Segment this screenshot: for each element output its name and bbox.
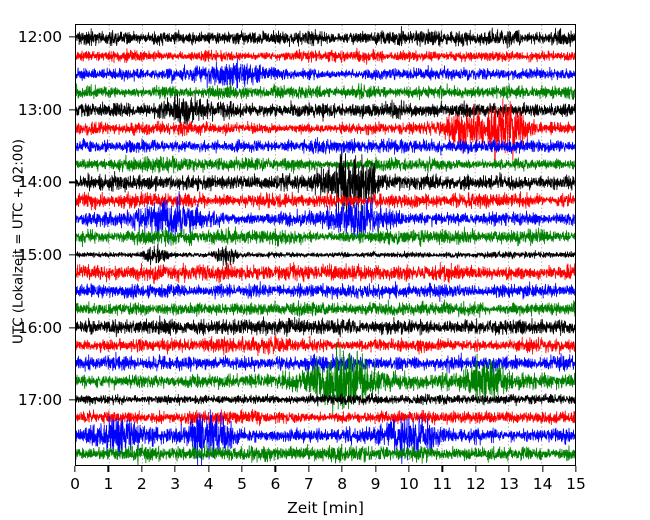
- x-tick-label: 11: [433, 475, 453, 493]
- seismic-trace: [76, 282, 575, 302]
- seismic-trace: [76, 335, 575, 356]
- seismic-trace: [76, 48, 575, 64]
- x-tick-mark: [509, 466, 510, 472]
- seismic-trace: [76, 26, 575, 48]
- x-tick-mark: [575, 466, 576, 472]
- x-tick-mark: [108, 466, 109, 472]
- seismic-trace: [76, 444, 575, 465]
- x-tick-mark: [542, 466, 543, 472]
- x-tick-mark: [241, 466, 242, 472]
- seismic-trace: [76, 300, 575, 318]
- seismic-trace: [76, 137, 575, 156]
- x-tick-label: 15: [566, 475, 586, 493]
- x-axis-title: Zeit [min]: [75, 499, 576, 517]
- seismic-trace: [76, 409, 575, 425]
- x-tick-label: 7: [304, 475, 314, 493]
- y-axis-title: UTC (Lokalzeit = UTC + 02:00): [12, 42, 27, 442]
- x-axis-ticks: Zeit [min] 0123456789101112131415: [0, 466, 650, 520]
- x-tick-mark: [408, 466, 409, 472]
- x-tick-mark: [275, 466, 276, 472]
- x-tick-mark: [208, 466, 209, 472]
- seismic-trace: [76, 227, 575, 247]
- x-tick-label: 9: [371, 475, 381, 493]
- x-tick-mark: [175, 466, 176, 472]
- seismic-trace: [76, 59, 575, 88]
- x-tick-mark: [375, 466, 376, 472]
- x-tick-label: 3: [170, 475, 180, 493]
- x-tick-mark: [442, 466, 443, 472]
- x-tick-mark: [74, 466, 75, 472]
- seismic-trace: [76, 155, 575, 173]
- seismic-traces: [76, 25, 575, 465]
- x-tick-mark: [475, 466, 476, 472]
- x-tick-label: 12: [466, 475, 486, 493]
- seismic-trace: [76, 191, 575, 209]
- seismic-trace: [76, 343, 575, 414]
- x-tick-label: 0: [70, 475, 80, 493]
- x-tick-label: 2: [137, 475, 147, 493]
- x-tick-label: 6: [270, 475, 280, 493]
- seismic-trace: [76, 262, 575, 283]
- x-tick-label: 10: [399, 475, 419, 493]
- seismic-trace: [76, 316, 575, 337]
- seismogram-figure: 12:0013:0014:0015:0016:0017:00 UTC (Loka…: [0, 0, 650, 520]
- x-tick-label: 8: [337, 475, 347, 493]
- x-tick-mark: [308, 466, 309, 472]
- plot-area: [75, 24, 576, 466]
- x-tick-mark: [141, 466, 142, 472]
- x-tick-mark: [342, 466, 343, 472]
- x-tick-label: 14: [533, 475, 553, 493]
- x-tick-label: 4: [204, 475, 214, 493]
- seismic-trace: [76, 83, 575, 100]
- x-tick-label: 5: [237, 475, 247, 493]
- x-tick-label: 13: [499, 475, 519, 493]
- x-tick-label: 1: [103, 475, 113, 493]
